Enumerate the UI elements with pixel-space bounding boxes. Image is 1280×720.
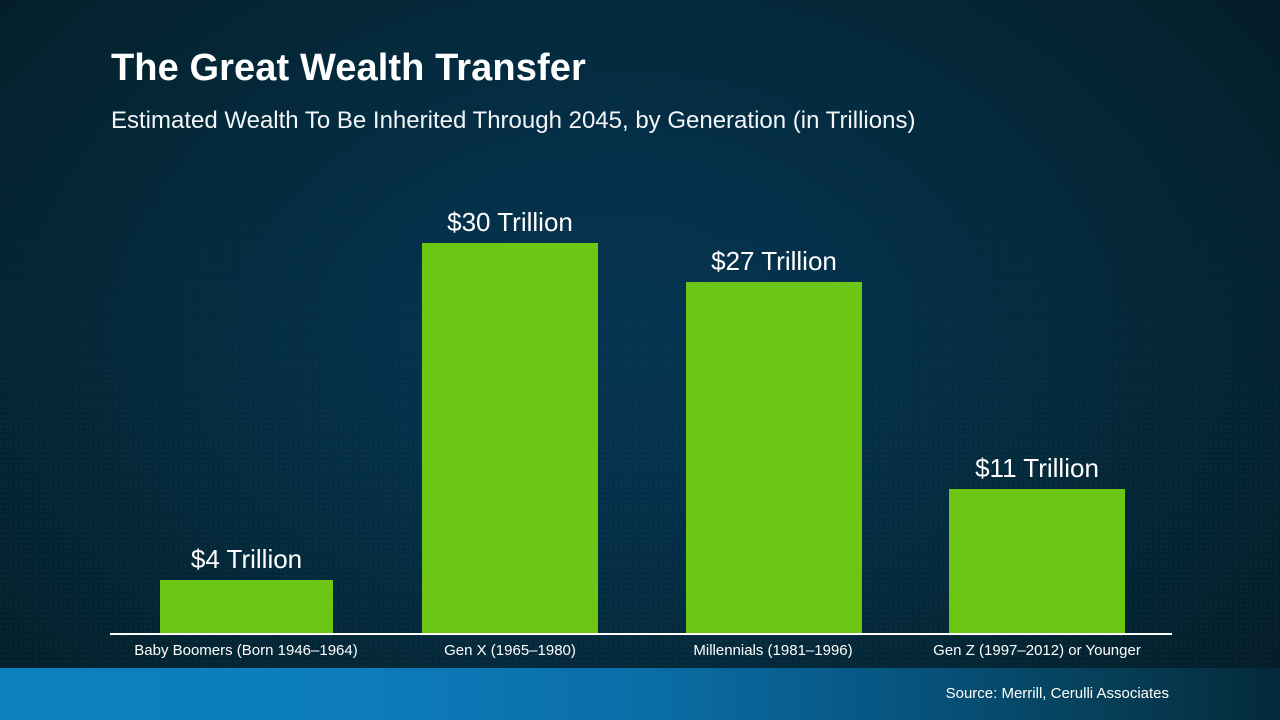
bar-value-label: $27 Trillion [711,246,837,276]
bar-group: $11 Trillion [949,489,1125,634]
bar-group: $27 Trillion [686,282,862,634]
x-axis-label-gen-z: Gen Z (1997–2012) or Younger [933,641,1141,661]
bar-chart-plot-area: $4 Trillion $30 Trillion $27 Trillion $1… [0,0,1280,720]
bar-group: $30 Trillion [422,243,598,634]
chart-slide: The Great Wealth Transfer Estimated Weal… [0,0,1280,720]
bar-gen-x[interactable] [422,243,598,634]
bar-gen-z[interactable] [949,489,1125,634]
x-axis-label-baby-boomers: Baby Boomers (Born 1946–1964) [134,641,357,661]
source-attribution: Source: Merrill, Cerulli Associates [946,684,1169,704]
x-axis-label-millennials: Millennials (1981–1996) [693,641,852,661]
bar-millennials[interactable] [686,282,862,634]
bar-value-label: $11 Trillion [975,453,1099,483]
x-axis-line [110,633,1172,635]
bar-value-label: $4 Trillion [191,544,302,574]
bar-baby-boomers[interactable] [160,580,333,634]
bar-value-label: $30 Trillion [447,207,573,237]
x-axis-label-gen-x: Gen X (1965–1980) [444,641,576,661]
bar-group: $4 Trillion [160,580,333,634]
